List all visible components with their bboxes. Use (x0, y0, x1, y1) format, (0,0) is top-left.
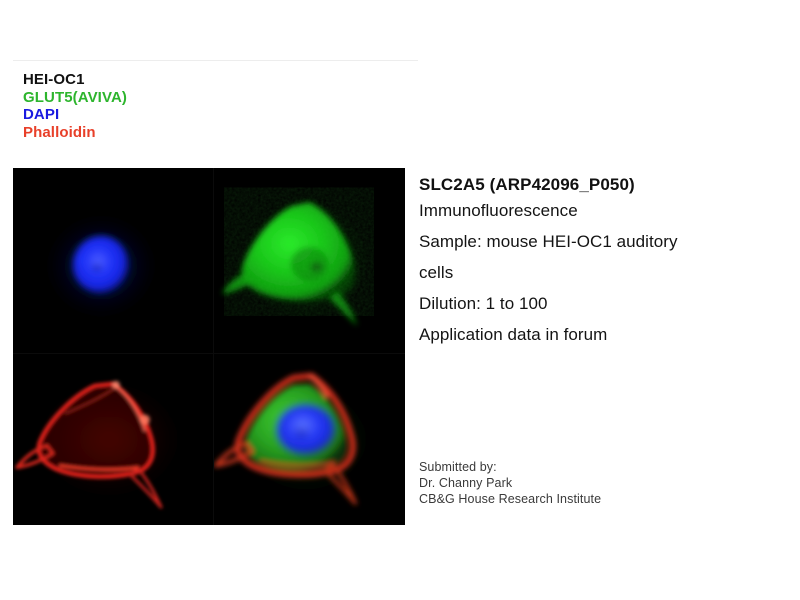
caption-line-dilution: Dilution: 1 to 100 (419, 288, 800, 319)
micrograph-panel-grid (13, 168, 405, 525)
submitter-name: Dr. Channy Park (419, 475, 800, 491)
micrograph-panel-merge (213, 353, 405, 525)
legend-green-marker: GLUT5(AVIVA) (23, 89, 418, 107)
legend-red-marker: Phalloidin (23, 124, 418, 142)
submitter-label: Submitted by: (419, 459, 800, 475)
caption-line-application: Immunofluorescence (419, 195, 800, 226)
legend-cell-line: HEI-OC1 (23, 71, 418, 89)
caption-line-sample: Sample: mouse HEI-OC1 auditory (419, 226, 800, 257)
submitter-credit: Submitted by: Dr. Channy Park CB&G House… (419, 459, 800, 507)
submitter-institute: CB&G House Research Institute (419, 491, 800, 507)
micrograph-panel-dapi (13, 168, 213, 353)
caption-line-forum: Application data in forum (419, 319, 800, 350)
dapi-nucleus-image (13, 168, 213, 353)
immunofluorescence-figure: HEI-OC1 GLUT5(AVIVA) DAPI Phalloidin (13, 60, 418, 525)
caption-line-sample-cont: cells (419, 257, 800, 288)
figure-caption: SLC2A5 (ARP42096_P050) Immunofluorescenc… (419, 174, 800, 350)
micrograph-panel-phalloidin (13, 353, 213, 525)
micrograph-panel-glut5 (213, 168, 405, 353)
glut5-cytoplasm-image (214, 168, 405, 353)
channel-legend: HEI-OC1 GLUT5(AVIVA) DAPI Phalloidin (13, 60, 418, 168)
phalloidin-actin-image (13, 354, 213, 525)
merged-channels-image (214, 354, 405, 525)
caption-title: SLC2A5 (ARP42096_P050) (419, 174, 800, 195)
legend-blue-marker: DAPI (23, 106, 418, 124)
